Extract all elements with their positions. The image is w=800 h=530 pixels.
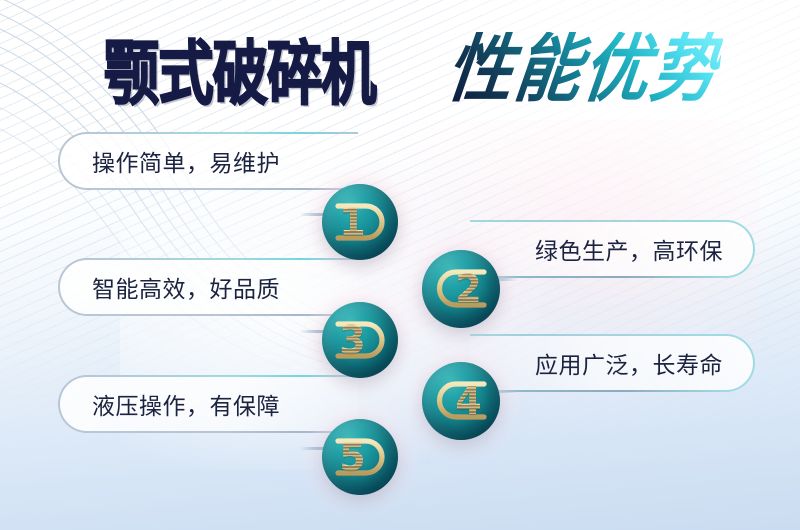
feature-pill-1[interactable]: 操作简单，易维护 [58,132,358,190]
page-title-main: 颚式破碎机 [104,40,376,110]
feature-pill-2[interactable]: 绿色生产，高环保 [470,220,755,278]
feature-number-circle-4[interactable]: 4 [422,362,500,440]
feature-number-circle-1[interactable]: 1 [322,184,398,260]
feature-pill-3[interactable]: 智能高效，好品质 [58,258,358,316]
feature-pill-5[interactable]: 液压操作，有保障 [58,375,358,433]
header: 颚式破碎机 性能优势 [0,18,800,118]
page-title-subtitle: 性能优势 [443,32,724,106]
feature-number-4: 4 [422,362,500,440]
feature-label-5: 液压操作，有保障 [92,387,280,421]
feature-number-circle-5[interactable]: 5 [322,419,398,495]
feature-label-4: 应用广泛，长寿命 [535,346,723,380]
feature-number-1: 1 [322,184,398,260]
feature-number-circle-3[interactable]: 3 [322,302,398,378]
feature-number-3: 3 [322,302,398,378]
feature-number-circle-2[interactable]: 2 [422,250,500,328]
feature-pill-4[interactable]: 应用广泛，长寿命 [470,334,755,392]
infographic-canvas: 颚式破碎机 性能优势 操作简单，易维护 智能高效，好品质 液压操作，有保障 绿色… [0,0,800,530]
feature-label-1: 操作简单，易维护 [92,144,280,178]
feature-label-3: 智能高效，好品质 [92,270,280,304]
feature-number-2: 2 [422,250,500,328]
feature-label-2: 绿色生产，高环保 [535,232,723,266]
feature-number-5: 5 [322,419,398,495]
